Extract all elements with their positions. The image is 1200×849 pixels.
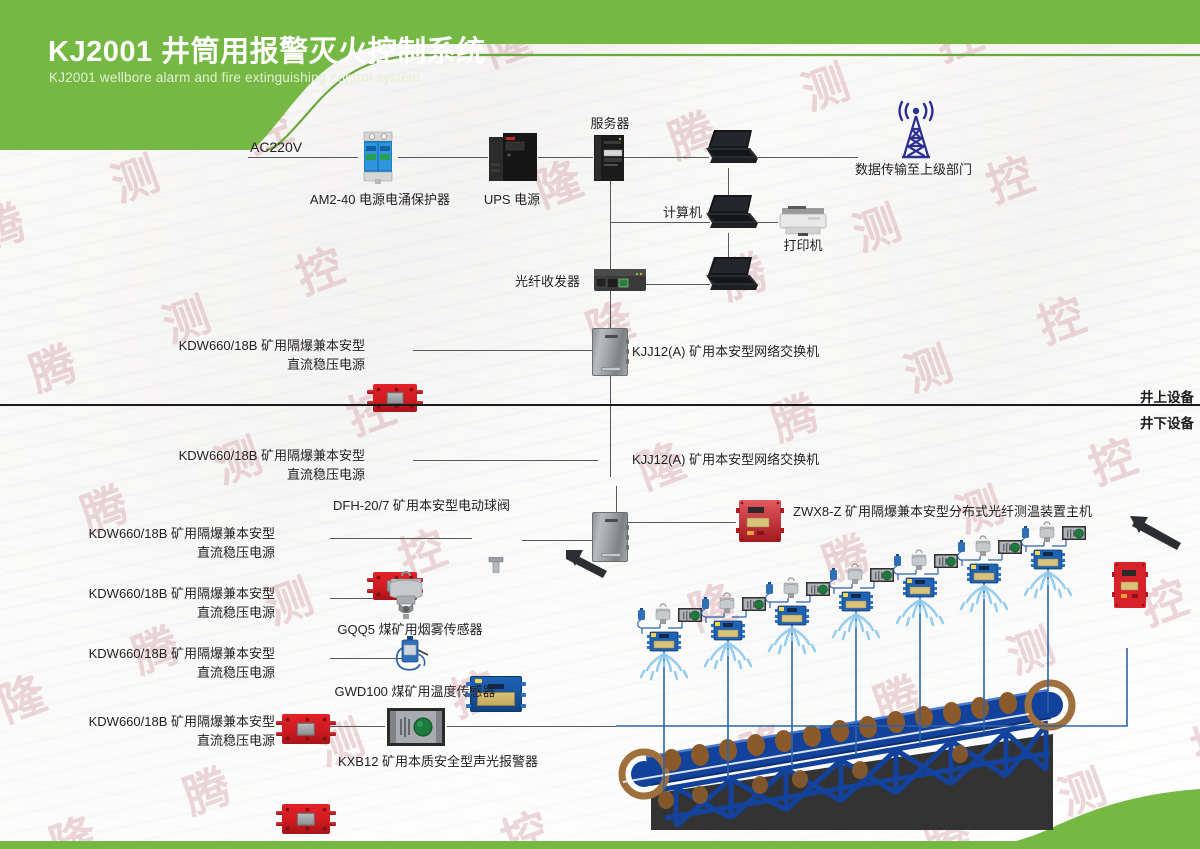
diagram-canvas: 隆 腾 测 控 隆 腾 测 控 隆 腾 测 控 隆 腾 测 控 隆 腾 测 控 … [0,0,1200,849]
arrow-pointer-group [0,0,1200,849]
